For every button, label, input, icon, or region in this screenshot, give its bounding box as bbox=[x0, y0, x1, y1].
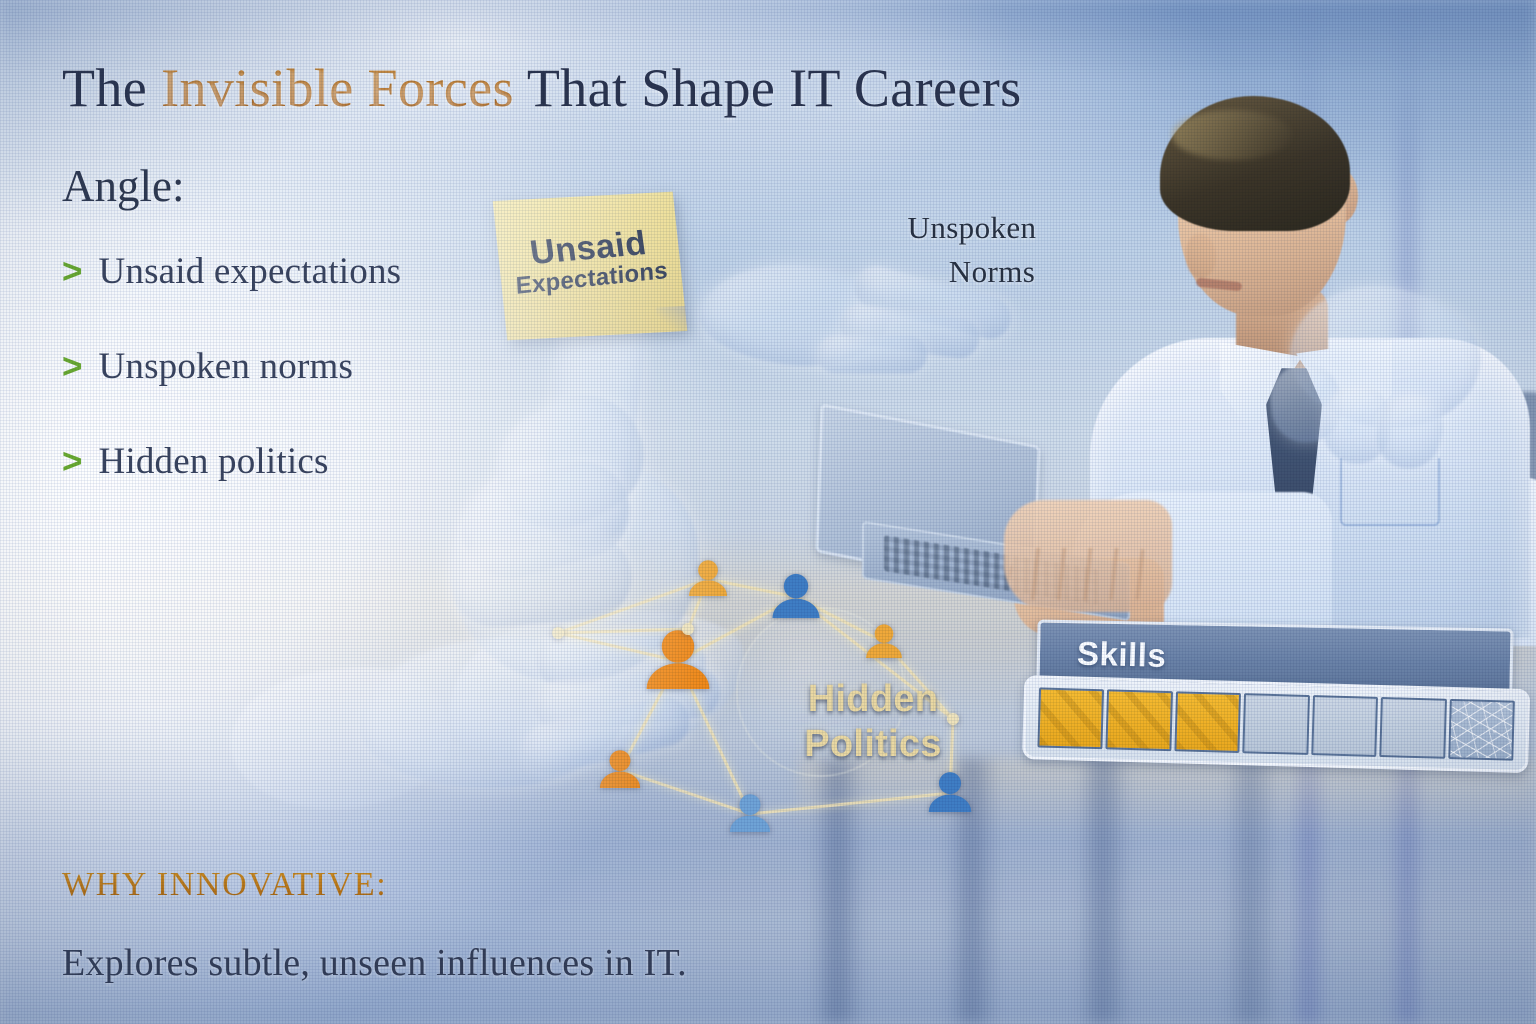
angle-heading: Angle: bbox=[62, 160, 184, 212]
title-highlight: Invisible Forces bbox=[161, 58, 514, 118]
why-innovative-heading: WHY INNOVATIVE: bbox=[62, 866, 387, 904]
chevron-right-icon: > bbox=[62, 254, 82, 289]
chevron-right-icon: > bbox=[62, 444, 82, 479]
footer-caption: Explores subtle, unseen influences in IT… bbox=[62, 941, 687, 985]
title-part2: That Shape IT Careers bbox=[514, 58, 1022, 118]
list-item[interactable]: > Unsaid expectations bbox=[62, 250, 532, 293]
list-item[interactable]: > Hidden politics bbox=[62, 440, 532, 483]
chevron-right-icon: > bbox=[62, 349, 82, 384]
list-item[interactable]: > Unspoken norms bbox=[62, 345, 532, 388]
angle-bullet-list: > Unsaid expectations > Unspoken norms >… bbox=[62, 250, 532, 535]
title-part1: The bbox=[62, 58, 161, 118]
bullet-label: Hidden politics bbox=[98, 440, 328, 483]
page-title: The Invisible Forces That Shape IT Caree… bbox=[62, 57, 1022, 119]
slide-canvas: Hidden Politics Unsaid Expectations Unsp… bbox=[0, 0, 1536, 1024]
bullet-label: Unsaid expectations bbox=[98, 250, 401, 293]
bullet-label: Unspoken norms bbox=[98, 345, 353, 388]
